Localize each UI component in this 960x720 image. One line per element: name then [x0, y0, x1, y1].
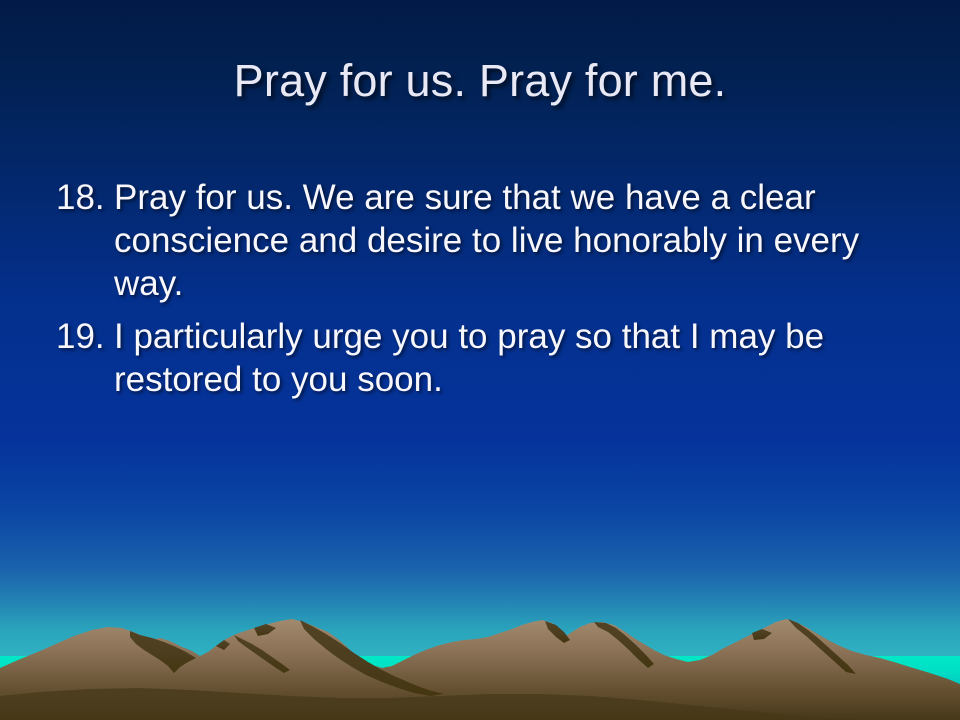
list-item: 18. Pray for us. We are sure that we hav… — [56, 176, 896, 305]
list-item: 19. I particularly urge you to pray so t… — [56, 315, 896, 401]
numbered-verse-list: 18. Pray for us. We are sure that we hav… — [56, 176, 896, 411]
list-item-text: Pray for us. We are sure that we have a … — [114, 176, 876, 305]
presentation-slide: Pray for us. Pray for me. 18. Pray for u… — [0, 0, 960, 720]
mountain-range-silhouette — [0, 610, 960, 720]
list-item-number: 18. — [56, 176, 114, 219]
list-item-text: I particularly urge you to pray so that … — [114, 315, 876, 401]
slide-title: Pray for us. Pray for me. — [0, 54, 960, 108]
list-item-number: 19. — [56, 315, 114, 358]
